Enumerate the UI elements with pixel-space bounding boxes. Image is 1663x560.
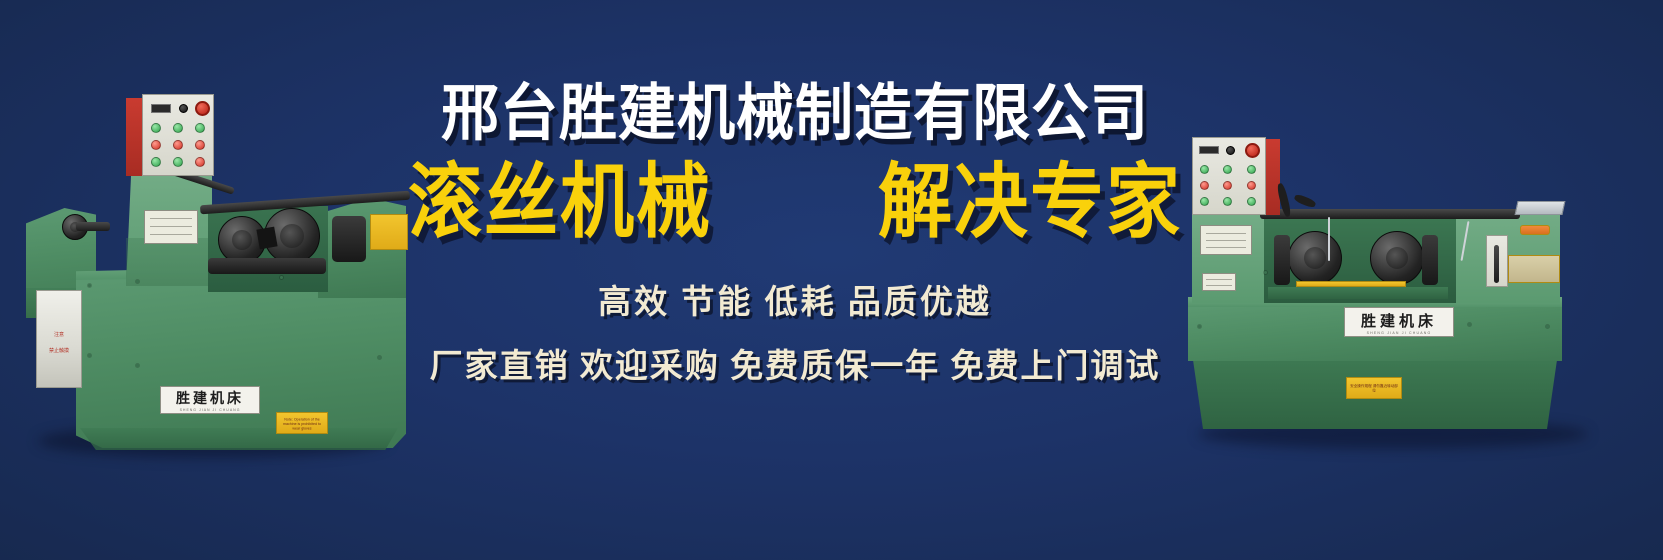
panel-lamp-1[interactable] [151, 123, 161, 133]
promo-banner: 胜建机床 SHENG JIAN JI CHUANG Note: Operatio… [0, 0, 1663, 560]
machine-left-side-cabinet: 注意 禁止触摸 [36, 290, 82, 388]
machine-right-roller-1 [1288, 231, 1342, 285]
panel-knob-icon[interactable] [1226, 146, 1235, 155]
tagline-features: 高效 节能 低耗 品质优越 [400, 275, 1190, 323]
panel-lamp-7[interactable] [151, 157, 161, 167]
panel-lamp-2[interactable] [173, 123, 183, 133]
machine-right-slide-left [1274, 235, 1290, 285]
panel-lamp-6[interactable] [195, 140, 205, 150]
tagline-services: 厂家直销 欢迎采购 免费质保一年 免费上门调试 [400, 339, 1190, 387]
bolt [1198, 325, 1201, 328]
panel-lamp-2[interactable] [1223, 165, 1232, 174]
machine-right-accessory-shaft [1494, 245, 1499, 283]
machine-right-spec-plate [1200, 225, 1252, 255]
machine-left-warning-text: Note: Operation of the machine is prohib… [280, 416, 325, 430]
machine-left-bed-base [80, 428, 398, 450]
machine-left-warning-label: Note: Operation of the machine is prohib… [276, 412, 328, 434]
machine-left-control-panel[interactable] [126, 94, 214, 176]
machine-right-warning-label: 安全操作规程 请勿靠近转动部位 [1346, 377, 1402, 399]
bolt [88, 284, 91, 287]
machine-right-nameplate-pinyin: SHENG JIAN JI CHUANG [1367, 331, 1432, 335]
panel-lamp-8[interactable] [1223, 197, 1232, 206]
panel-lamp-4[interactable] [151, 140, 161, 150]
machine-left-spec-plate [144, 210, 198, 244]
bolt [1264, 271, 1267, 274]
emergency-stop-button[interactable] [1245, 143, 1260, 158]
machine-right-terminal-block [1520, 225, 1550, 235]
panel-lamp-8[interactable] [173, 157, 183, 167]
machine-right-nameplate: 胜建机床 SHENG JIAN JI CHUANG [1344, 307, 1454, 337]
machine-right-control-panel[interactable] [1192, 137, 1280, 215]
machine-right-plate-right [1508, 255, 1560, 283]
machine-right-warning-text: 安全操作规程 请勿靠近转动部位 [1350, 384, 1399, 393]
machine-left-spindle-shaft [76, 222, 110, 231]
machine-right-top-rail [1260, 209, 1520, 219]
machine-right-wire-1 [1328, 217, 1330, 261]
machine-right-tool-tray [1515, 201, 1566, 215]
panel-lamp-4[interactable] [1200, 181, 1209, 190]
bolt [378, 356, 381, 359]
bolt [1546, 325, 1549, 328]
panel-display [151, 104, 171, 113]
machine-right-slide-right [1422, 235, 1438, 285]
panel-lamp-7[interactable] [1200, 197, 1209, 206]
machine-right-roller-2 [1370, 231, 1424, 285]
machine-left-nameplate-pinyin: SHENG JIAN JI CHUANG [180, 408, 241, 412]
emergency-stop-button[interactable] [195, 101, 210, 116]
machine-right-work-strip [1296, 281, 1406, 287]
headline-row: 滚丝机械 解决专家 [400, 165, 1190, 239]
panel-display [1199, 146, 1219, 154]
machine-left-cabinet-text-2: 禁止触摸 [37, 347, 81, 355]
machine-right-nameplate-cn: 胜建机床 [1361, 310, 1437, 331]
machine-left: 胜建机床 SHENG JIAN JI CHUANG Note: Operatio… [18, 88, 413, 466]
control-panel-face [1192, 137, 1266, 215]
panel-lamp-5[interactable] [173, 140, 183, 150]
headline-right: 解决专家 [878, 161, 1182, 242]
bolt [1468, 323, 1471, 326]
banner-text-block: 邢台胜建机械制造有限公司 滚丝机械 解决专家 高效 节能 低耗 品质优越 厂家直… [400, 84, 1190, 387]
bolt [88, 354, 91, 357]
bolt [136, 280, 139, 283]
panel-lamp-9[interactable] [1247, 197, 1256, 206]
machine-left-belt [256, 227, 277, 250]
company-name: 邢台胜建机械制造有限公司 [400, 82, 1190, 147]
machine-right: 胜建机床 SHENG JIAN JI CHUANG 安全操作规程 请勿靠近转动部… [1168, 125, 1648, 455]
machine-right-conduit-elbow [1293, 193, 1316, 209]
panel-lamp-3[interactable] [1247, 165, 1256, 174]
panel-lamp-6[interactable] [1247, 181, 1256, 190]
machine-left-column-shade [126, 238, 212, 286]
panel-lamp-9[interactable] [195, 157, 205, 167]
machine-left-nameplate: 胜建机床 SHENG JIAN JI CHUANG [160, 386, 260, 414]
machine-right-spec-plate-2 [1202, 273, 1236, 291]
machine-left-nameplate-cn: 胜建机床 [176, 388, 244, 408]
panel-lamp-1[interactable] [1200, 165, 1209, 174]
panel-lamp-3[interactable] [195, 123, 205, 133]
panel-lamp-5[interactable] [1223, 181, 1232, 190]
bolt [280, 276, 283, 279]
panel-knob-icon[interactable] [179, 104, 188, 113]
machine-left-right-hub [332, 216, 366, 262]
headline-left: 滚丝机械 [408, 161, 712, 242]
control-panel-face [142, 94, 214, 176]
machine-left-motor [208, 258, 326, 274]
machine-left-cabinet-text-1: 注意 [37, 331, 81, 339]
machine-right-work-floor [1268, 287, 1448, 299]
bolt [136, 364, 139, 367]
